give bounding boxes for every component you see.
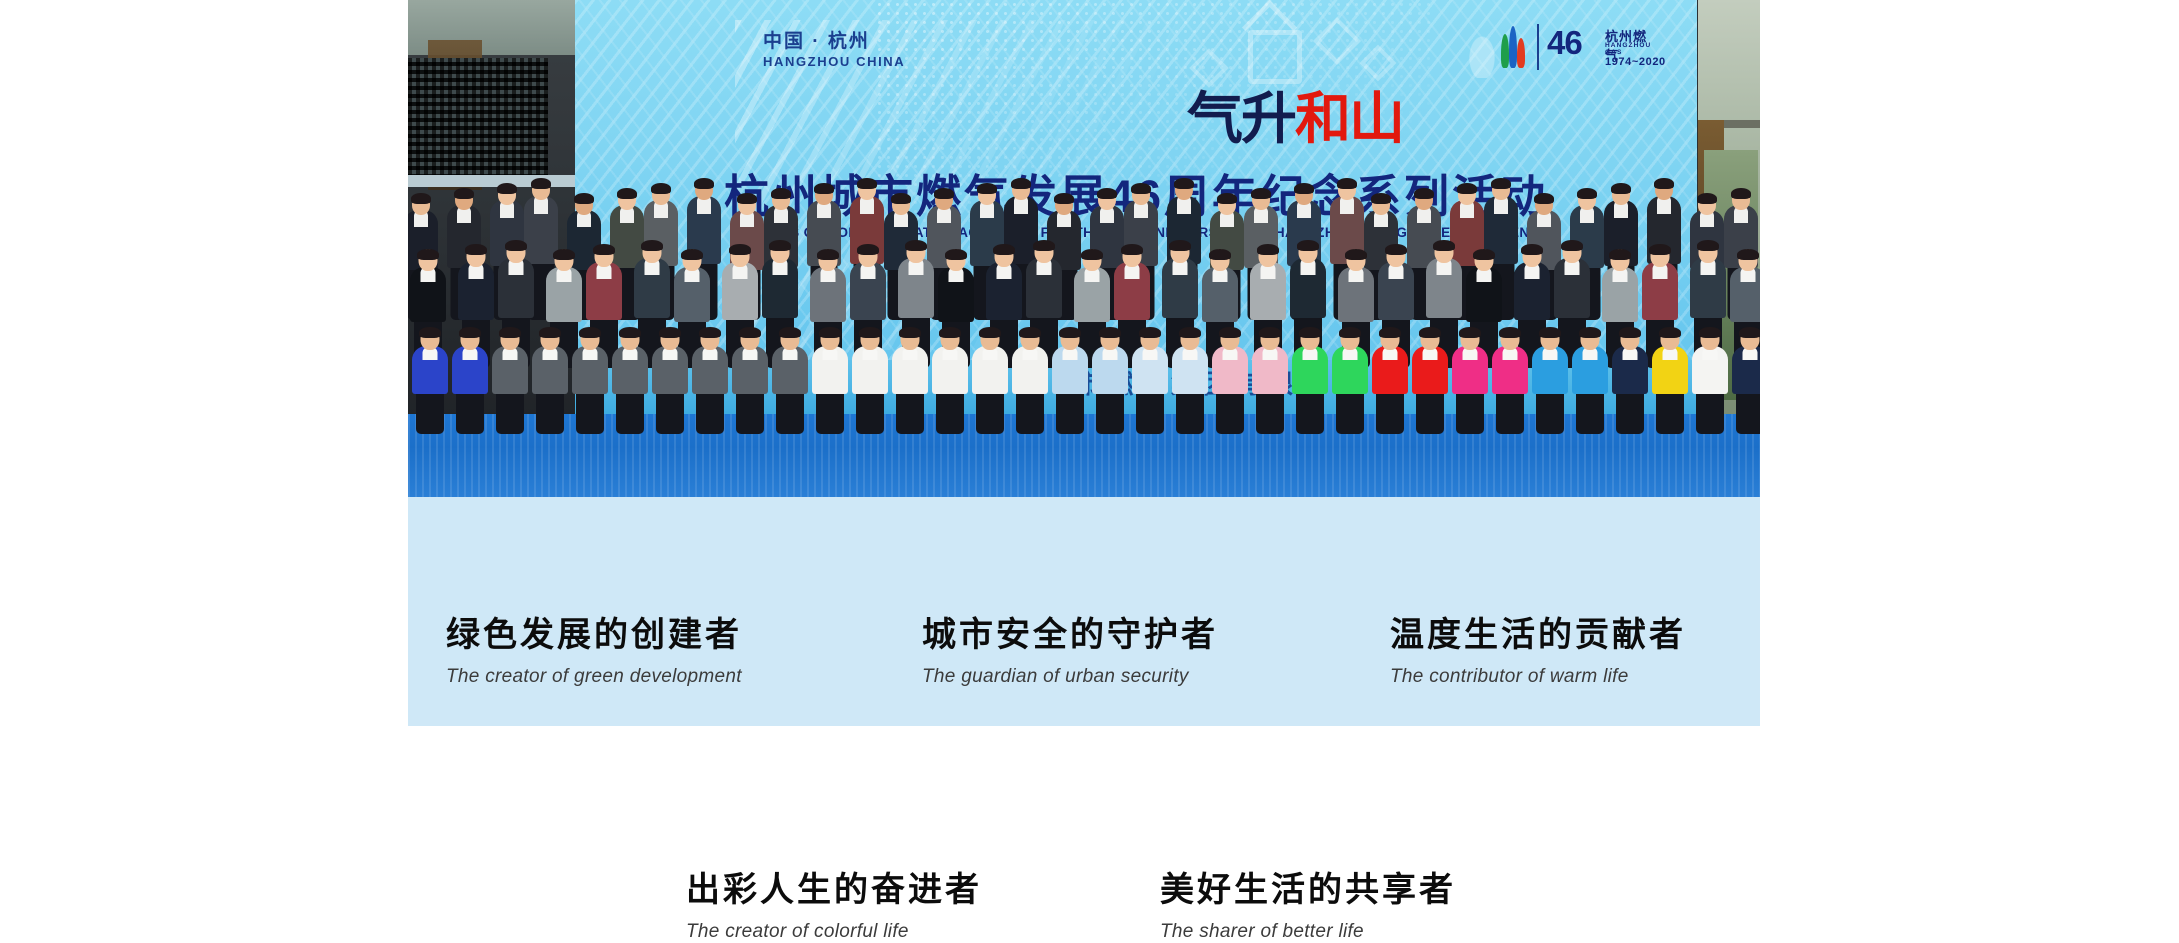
- person-hair: [1019, 327, 1041, 338]
- person-hair: [454, 188, 474, 199]
- person-legs: [696, 388, 724, 434]
- person-hair: [769, 240, 791, 251]
- person-hair: [1419, 327, 1441, 338]
- person-hair: [1179, 327, 1201, 338]
- person: [1572, 314, 1608, 434]
- slogan-cn: 温度生活的贡献者: [1390, 607, 1686, 656]
- person-hair: [617, 188, 637, 199]
- slogan-cn: 出彩人生的奋进者: [686, 862, 982, 911]
- person-hair: [465, 244, 487, 255]
- person-legs: [1296, 388, 1324, 434]
- person-hair: [817, 249, 839, 260]
- person-hair: [1699, 327, 1721, 338]
- person-hair: [1139, 327, 1161, 338]
- person-hair: [977, 183, 997, 194]
- person-hair: [1697, 193, 1717, 204]
- person-hair: [531, 178, 551, 189]
- person-hair: [779, 327, 801, 338]
- person: [772, 314, 808, 434]
- person-hair: [993, 244, 1015, 255]
- person-legs: [936, 388, 964, 434]
- person-hair: [1054, 193, 1074, 204]
- person-hair: [1257, 244, 1279, 255]
- person-hair: [1251, 188, 1271, 199]
- person: [532, 314, 568, 434]
- person-hair: [1081, 249, 1103, 260]
- person-hair: [1473, 249, 1495, 260]
- person-hair: [1339, 327, 1361, 338]
- person: [1012, 314, 1048, 434]
- person-legs: [496, 388, 524, 434]
- person-legs: [736, 388, 764, 434]
- person: [1212, 314, 1248, 434]
- person-hair: [934, 188, 954, 199]
- person: [692, 314, 728, 434]
- person-hair: [771, 188, 791, 199]
- crowd-group: [408, 150, 1760, 440]
- person-hair: [694, 178, 714, 189]
- person-hair: [814, 183, 834, 194]
- person-hair: [619, 327, 641, 338]
- person-hair: [1033, 240, 1055, 251]
- person-hair: [505, 240, 527, 251]
- company-name-en: HANGZHOU GAS: [1605, 42, 1651, 56]
- person-legs: [896, 388, 924, 434]
- person-hair: [1294, 183, 1314, 194]
- location-en: HANGZHOU CHINA: [763, 54, 905, 69]
- person-hair: [1659, 327, 1681, 338]
- location-cn: 中国 · 杭州: [763, 26, 870, 53]
- slogan-urban-security: 城市安全的守护者 The guardian of urban security: [922, 607, 1218, 688]
- person: [1452, 314, 1488, 434]
- person-hair: [1345, 249, 1367, 260]
- person-hair: [1099, 327, 1121, 338]
- person-hair: [857, 178, 877, 189]
- person-hair: [1337, 178, 1357, 189]
- person: [1532, 314, 1568, 434]
- kv-logotype-part1: 气升: [1187, 87, 1295, 152]
- slogan-cn: 美好生活的共享者: [1160, 862, 1456, 911]
- person-hair: [1059, 327, 1081, 338]
- person-legs: [456, 388, 484, 434]
- person-legs: [1536, 388, 1564, 434]
- person: [1372, 314, 1408, 434]
- person-legs: [816, 388, 844, 434]
- person-legs: [1616, 388, 1644, 434]
- person-hair: [1414, 188, 1434, 199]
- person-hair: [1731, 188, 1751, 199]
- person-hair: [1297, 240, 1319, 251]
- person-legs: [776, 388, 804, 434]
- person-hair: [1611, 183, 1631, 194]
- person-hair: [1521, 244, 1543, 255]
- flame-icon: [1501, 26, 1527, 68]
- content-block: 中国 · 杭州 HANGZHOU CHINA 气升和山 杭州城市燃气发展46周年…: [408, 0, 1760, 726]
- person-hair: [1491, 178, 1511, 189]
- person-hair: [1577, 188, 1597, 199]
- person-legs: [616, 388, 644, 434]
- person-hair: [1579, 327, 1601, 338]
- person-hair: [411, 193, 431, 204]
- person: [1172, 314, 1208, 434]
- person-hair: [1379, 327, 1401, 338]
- person: [812, 314, 848, 434]
- person-legs: [856, 388, 884, 434]
- person: [612, 314, 648, 434]
- person-hair: [1561, 240, 1583, 251]
- person-legs: [1376, 388, 1404, 434]
- person-hair: [939, 327, 961, 338]
- person-hair: [1371, 193, 1391, 204]
- person: [1732, 314, 1760, 434]
- person-hair: [641, 240, 663, 251]
- person-hair: [1219, 327, 1241, 338]
- person: [1252, 314, 1288, 434]
- person: [1652, 314, 1688, 434]
- brand-mark: 46 杭州燃气 HANGZHOU GAS 1974~2020: [1501, 18, 1651, 78]
- person-hair: [651, 183, 671, 194]
- house-icon: [1240, 6, 1300, 76]
- person: [972, 314, 1008, 434]
- person: [1692, 314, 1728, 434]
- person-legs: [1136, 388, 1164, 434]
- person-hair: [417, 249, 439, 260]
- person-hair: [1131, 183, 1151, 194]
- person-hair: [737, 193, 757, 204]
- slogan-colorful-life: 出彩人生的奋进者 The creator of colorful life: [686, 862, 982, 943]
- person-hair: [1121, 244, 1143, 255]
- person: [1332, 314, 1368, 434]
- person-hair: [419, 327, 441, 338]
- person-hair: [1217, 193, 1237, 204]
- person: [732, 314, 768, 434]
- person-hair: [659, 327, 681, 338]
- person-hair: [553, 249, 575, 260]
- person-hair: [1539, 327, 1561, 338]
- slogan-en: The creator of green development: [446, 666, 742, 688]
- person-hair: [539, 327, 561, 338]
- person-hair: [593, 244, 615, 255]
- person-hair: [579, 327, 601, 338]
- person: [1052, 314, 1088, 434]
- slogan-en: The guardian of urban security: [922, 666, 1218, 688]
- anniversary-years: 1974~2020: [1605, 56, 1666, 68]
- person-hair: [681, 249, 703, 260]
- person: [932, 314, 968, 434]
- person-legs: [1496, 388, 1524, 434]
- person: [1612, 314, 1648, 434]
- person: [1492, 314, 1528, 434]
- person-hair: [1011, 178, 1031, 189]
- person: [652, 314, 688, 434]
- group-photo: 中国 · 杭州 HANGZHOU CHINA 气升和山 杭州城市燃气发展46周年…: [408, 0, 1760, 497]
- person: [572, 314, 608, 434]
- person-hair: [1499, 327, 1521, 338]
- person-legs: [1216, 388, 1244, 434]
- person-hair: [1097, 188, 1117, 199]
- person-hair: [499, 327, 521, 338]
- person-legs: [1696, 388, 1724, 434]
- person-legs: [656, 388, 684, 434]
- person-legs: [1256, 388, 1284, 434]
- person-hair: [945, 249, 967, 260]
- person-hair: [899, 327, 921, 338]
- person-legs: [1176, 388, 1204, 434]
- mark-divider: [1537, 24, 1539, 70]
- person-legs: [1336, 388, 1364, 434]
- person-legs: [576, 388, 604, 434]
- person-hair: [905, 240, 927, 251]
- person-hair: [1209, 249, 1231, 260]
- person: [892, 314, 928, 434]
- person-legs: [536, 388, 564, 434]
- person-hair: [729, 244, 751, 255]
- person-hair: [1739, 327, 1760, 338]
- slogan-cn: 城市安全的守护者: [922, 607, 1218, 656]
- person: [452, 314, 488, 434]
- person-legs: [1736, 388, 1760, 434]
- slogan-en: The contributor of warm life: [1390, 666, 1686, 688]
- slogan-en: The sharer of better life: [1160, 921, 1456, 943]
- person-hair: [1619, 327, 1641, 338]
- person-hair: [1385, 244, 1407, 255]
- person-hair: [1697, 240, 1719, 251]
- person-hair: [979, 327, 1001, 338]
- person-hair: [739, 327, 761, 338]
- person-hair: [574, 193, 594, 204]
- person-hair: [1737, 249, 1759, 260]
- person-hair: [497, 183, 517, 194]
- person: [1412, 314, 1448, 434]
- slogan-better-life: 美好生活的共享者 The sharer of better life: [1160, 862, 1456, 943]
- person-legs: [1456, 388, 1484, 434]
- slogan-area: 绿色发展的创建者 The creator of green developmen…: [408, 497, 1760, 726]
- person-hair: [1654, 178, 1674, 189]
- person-legs: [976, 388, 1004, 434]
- person-hair: [1459, 327, 1481, 338]
- person-hair: [1534, 193, 1554, 204]
- person: [1092, 314, 1128, 434]
- person-legs: [1056, 388, 1084, 434]
- person-hair: [699, 327, 721, 338]
- person-hair: [1259, 327, 1281, 338]
- person: [852, 314, 888, 434]
- person-hair: [1609, 249, 1631, 260]
- slogan-cn: 绿色发展的创建者: [446, 607, 742, 656]
- person: [412, 314, 448, 434]
- person: [492, 314, 528, 434]
- person-hair: [859, 327, 881, 338]
- person-legs: [1016, 388, 1044, 434]
- person-hair: [1649, 244, 1671, 255]
- kv-logotype-part2: 和山: [1295, 87, 1403, 152]
- person-hair: [1457, 183, 1477, 194]
- person-legs: [1416, 388, 1444, 434]
- anniversary-number: 46: [1547, 24, 1582, 62]
- slogan-green-development: 绿色发展的创建者 The creator of green developmen…: [446, 607, 742, 688]
- slogan-en: The creator of colorful life: [686, 921, 982, 943]
- person: [1132, 314, 1168, 434]
- person-hair: [1169, 240, 1191, 251]
- person-hair: [857, 244, 879, 255]
- person-hair: [1433, 240, 1455, 251]
- person-legs: [416, 388, 444, 434]
- person-hair: [1174, 178, 1194, 189]
- kv-logotype: 气升和山: [1187, 74, 1403, 155]
- page-root: 中国 · 杭州 HANGZHOU CHINA 气升和山 杭州城市燃气发展46周年…: [0, 0, 2179, 726]
- person-hair: [459, 327, 481, 338]
- person-hair: [1299, 327, 1321, 338]
- person-legs: [1576, 388, 1604, 434]
- slogan-warm-life: 温度生活的贡献者 The contributor of warm life: [1390, 607, 1686, 688]
- person-legs: [1096, 388, 1124, 434]
- person: [1292, 314, 1328, 434]
- person-hair: [891, 193, 911, 204]
- person-hair: [819, 327, 841, 338]
- person-legs: [1656, 388, 1684, 434]
